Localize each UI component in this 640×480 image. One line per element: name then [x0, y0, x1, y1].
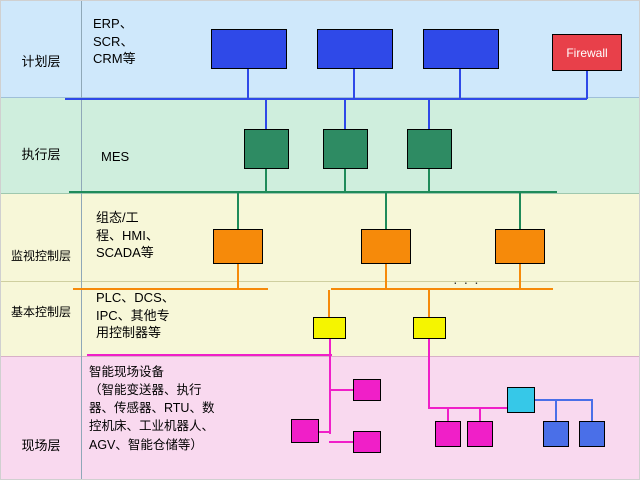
execution-drop-3 — [428, 169, 430, 192]
plc-node-1[interactable] — [313, 317, 346, 339]
field-right-drop-2 — [479, 407, 481, 421]
supervisory-riser-3 — [519, 191, 521, 229]
band-divider-2 — [1, 193, 640, 194]
field-bus — [87, 354, 332, 356]
execution-bus — [69, 191, 557, 193]
field-node-5[interactable] — [467, 421, 493, 447]
planning-bus — [65, 98, 587, 100]
field-description: 智能现场设备 （智能变送器、执行 器、传感器、RTU、数 控机床、工业机器人、 … — [89, 363, 289, 454]
blue-trunk — [535, 399, 593, 401]
diagram-root: 计划层 执行层 监视控制层 基本控制层 现场层 ERP、 SCR、 CRM等 M… — [0, 0, 640, 480]
scada-node-2[interactable] — [361, 229, 411, 264]
field-node-4[interactable] — [435, 421, 461, 447]
mes-node-2[interactable] — [323, 129, 368, 169]
supervisory-riser-2 — [385, 191, 387, 229]
blue-drop-1 — [555, 399, 557, 421]
supervisory-drop-2 — [385, 264, 387, 289]
basic-drop-1 — [328, 290, 330, 317]
blue-drop-2 — [591, 399, 593, 421]
field-branch-1 — [329, 389, 355, 391]
plc2-drop — [428, 339, 430, 409]
field-node-1[interactable] — [353, 379, 381, 401]
field-node-8[interactable] — [579, 421, 605, 447]
field-riser-left — [329, 354, 331, 434]
plc1-to-fieldbus — [329, 339, 331, 355]
execution-riser-3 — [428, 98, 430, 129]
field-node-6[interactable] — [507, 387, 535, 413]
band-label-field: 现场层 — [1, 435, 81, 454]
label-column-divider — [81, 1, 82, 480]
execution-riser-1 — [265, 98, 267, 129]
field-node-2[interactable] — [291, 419, 319, 443]
field-right-drop-1 — [447, 407, 449, 421]
firewall-node[interactable]: Firewall — [552, 34, 622, 71]
supervisory-bus-left — [73, 288, 268, 290]
execution-drop-2 — [344, 169, 346, 192]
planning-drop-3 — [459, 69, 461, 99]
supervisory-drop-1 — [237, 264, 239, 289]
planning-description: ERP、 SCR、 CRM等 — [93, 15, 197, 68]
band-divider-4 — [1, 356, 640, 357]
band-label-planning: 计划层 — [1, 51, 81, 70]
execution-riser-2 — [344, 98, 346, 129]
plc-node-2[interactable] — [413, 317, 446, 339]
erp-node[interactable] — [211, 29, 287, 69]
planning-drop-firewall — [586, 71, 588, 99]
basic-drop-2 — [428, 290, 430, 317]
ellipsis-dots: · · · — [453, 274, 480, 290]
band-label-supervisory: 监视控制层 — [1, 247, 81, 264]
supervisory-riser-1 — [237, 191, 239, 229]
band-divider-3 — [1, 281, 640, 282]
field-node-7[interactable] — [543, 421, 569, 447]
planning-drop-1 — [247, 69, 249, 99]
supervisory-description: 组态/工 程、HMI、 SCADA等 — [96, 209, 214, 262]
firewall-label: Firewall — [566, 46, 607, 60]
band-label-basic: 基本控制层 — [1, 303, 81, 320]
scada-node-3[interactable] — [495, 229, 545, 264]
field-branch-3 — [329, 441, 355, 443]
crm-node[interactable] — [423, 29, 499, 69]
mes-node-1[interactable] — [244, 129, 289, 169]
scada-node-1[interactable] — [213, 229, 263, 264]
execution-description: MES — [101, 148, 201, 166]
mes-node-3[interactable] — [407, 129, 452, 169]
execution-drop-1 — [265, 169, 267, 192]
band-label-execution: 执行层 — [1, 144, 81, 163]
scr-node[interactable] — [317, 29, 393, 69]
basic-description: PLC、DCS、 IPC、其他专 用控制器等 — [96, 289, 221, 342]
supervisory-drop-3 — [519, 264, 521, 289]
supervisory-bus-right — [331, 288, 553, 290]
planning-drop-2 — [353, 69, 355, 99]
field-node-3[interactable] — [353, 431, 381, 453]
band-execution — [1, 97, 640, 193]
